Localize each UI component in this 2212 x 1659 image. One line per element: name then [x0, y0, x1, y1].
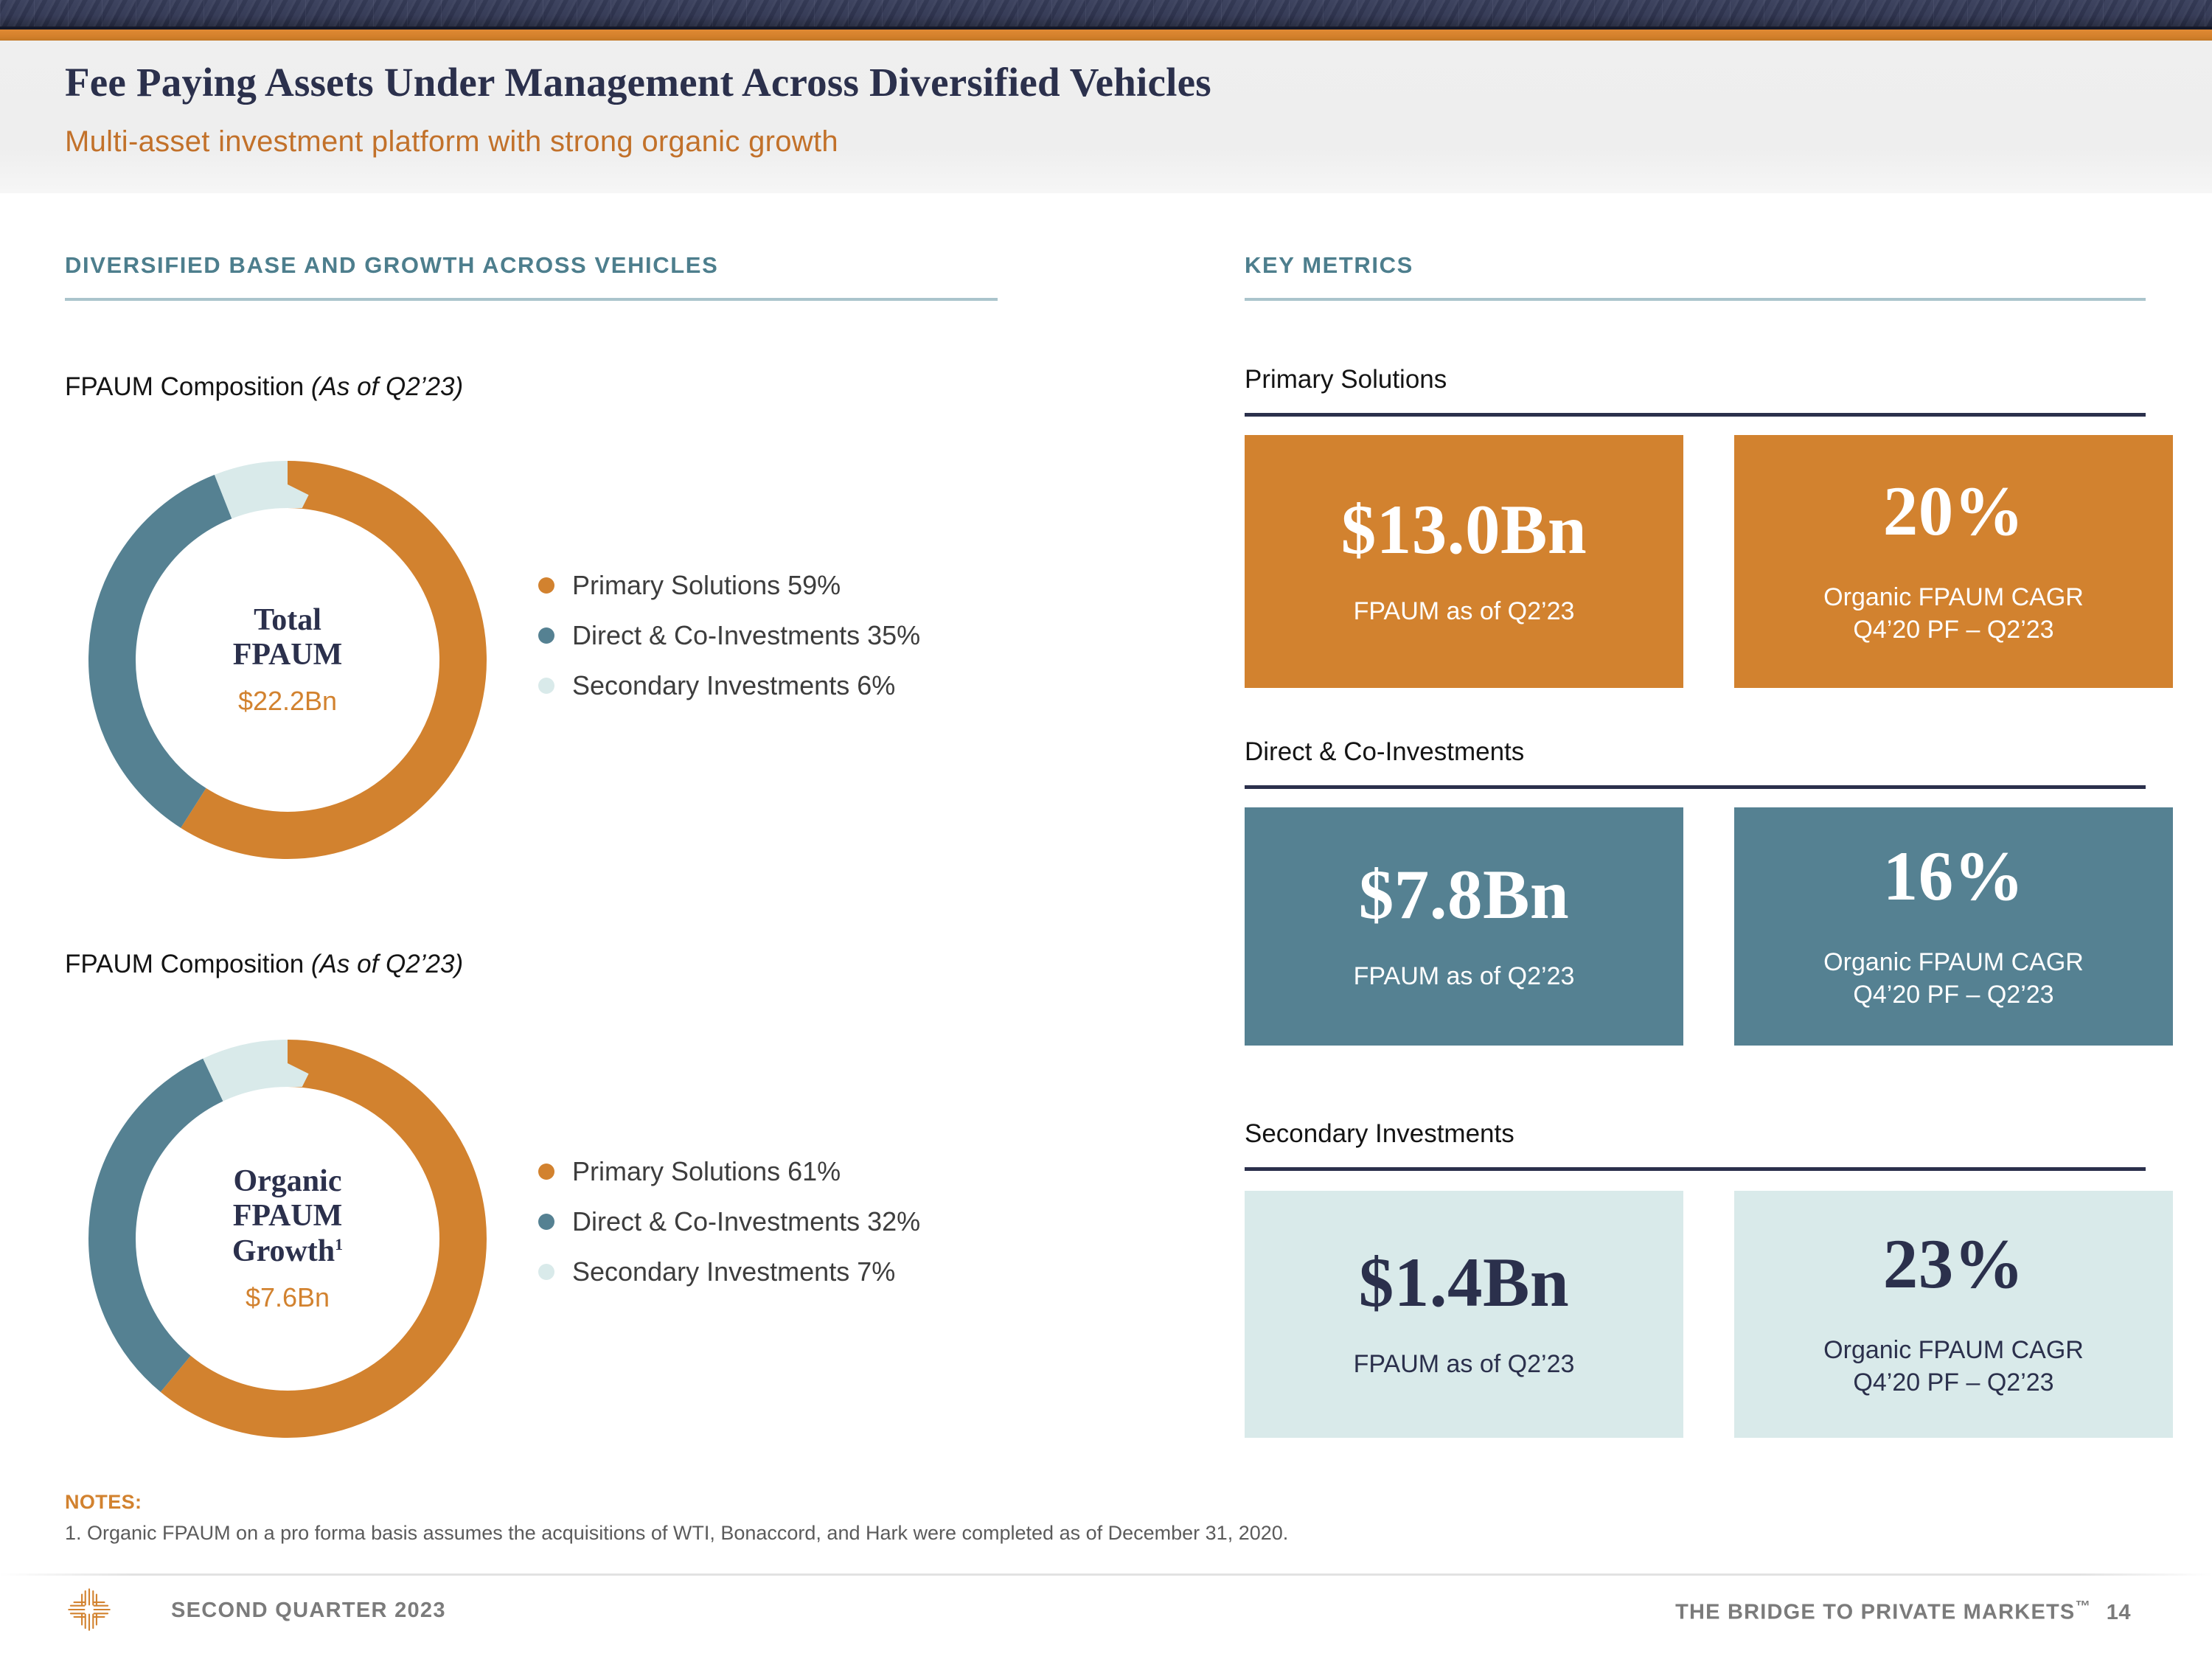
metric-card-caption-line1: Organic FPAUM CAGR — [1823, 1335, 2084, 1367]
metric-group-rule-secondary-investments — [1245, 1167, 2146, 1171]
donut-2-center-title-line3: Growth1 — [232, 1234, 343, 1269]
metric-card-caption-line1: Organic FPAUM CAGR — [1823, 947, 2084, 979]
metric-group-label-primary-solutions: Primary Solutions — [1245, 365, 1447, 394]
donut-chart-total-fpaum: Total FPAUM $22.2Bn — [74, 446, 501, 874]
metric-card-primary-fpaum[interactable]: $13.0Bn FPAUM as of Q2’23 — [1245, 435, 1683, 688]
legend-label: Secondary Investments 7% — [572, 1256, 895, 1287]
page-title: Fee Paying Assets Under Management Acros… — [65, 59, 1211, 105]
metric-card-value: 16% — [1883, 841, 2025, 911]
company-logo-icon — [65, 1585, 114, 1634]
footer-page-number: 14 — [2107, 1601, 2131, 1624]
metric-card-direct-fpaum[interactable]: $7.8Bn FPAUM as of Q2’23 — [1245, 807, 1683, 1046]
metric-card-caption: FPAUM as of Q2’23 — [1354, 1349, 1575, 1381]
legend-swatch-primary-solutions-icon — [538, 577, 554, 594]
metric-card-caption-line2: Q4’20 PF – Q2’23 — [1823, 979, 2084, 1012]
metric-group-rule-primary-solutions — [1245, 413, 2146, 417]
donut-1-center-title-line1: Total — [233, 603, 343, 638]
legend-item: Direct & Co-Investments 32% — [538, 1197, 920, 1247]
metric-card-direct-cagr[interactable]: 16% Organic FPAUM CAGR Q4’20 PF – Q2’23 — [1734, 807, 2173, 1046]
legend-label: Secondary Investments 6% — [572, 670, 895, 701]
chart-1-label-main: FPAUM Composition — [65, 372, 304, 401]
legend-item: Primary Solutions 61% — [538, 1147, 920, 1197]
legend-item: Primary Solutions 59% — [538, 560, 920, 611]
metric-card-value: 20% — [1883, 476, 2025, 546]
legend-label: Direct & Co-Investments 32% — [572, 1206, 920, 1237]
donut-1-center-title-line2: FPAUM — [233, 638, 343, 672]
metric-card-caption: FPAUM as of Q2’23 — [1354, 596, 1575, 628]
metric-card-caption: Organic FPAUM CAGR Q4’20 PF – Q2’23 — [1823, 582, 2084, 646]
donut-chart-organic-fpaum-growth: Organic FPAUM Growth1 $7.6Bn — [74, 1025, 501, 1453]
metric-card-value: $1.4Bn — [1359, 1248, 1569, 1318]
chart-2-label-note: (As of Q2’23) — [311, 950, 463, 978]
donut-2-center-title: Organic FPAUM Growth1 — [232, 1164, 343, 1268]
chart-2-legend: Primary Solutions 61% Direct & Co-Invest… — [538, 1147, 920, 1297]
chart-1-label: FPAUM Composition (As of Q2’23) — [65, 372, 463, 402]
legend-item: Direct & Co-Investments 35% — [538, 611, 920, 661]
metric-card-value: 23% — [1883, 1229, 2025, 1299]
page-subtitle: Multi-asset investment platform with str… — [65, 125, 838, 159]
footer-tagline: THE BRIDGE TO PRIVATE MARKETS™14 — [1675, 1599, 2131, 1625]
chart-2-label-main: FPAUM Composition — [65, 950, 304, 978]
donut-2-center-title-line3-text: Growth — [232, 1234, 335, 1268]
metric-group-label-direct-co-investments: Direct & Co-Investments — [1245, 737, 1524, 767]
metric-card-caption: Organic FPAUM CAGR Q4’20 PF – Q2’23 — [1823, 1335, 2084, 1399]
orange-accent-band — [0, 29, 2212, 41]
legend-item: Secondary Investments 6% — [538, 661, 920, 711]
left-section-rule — [65, 298, 998, 301]
metric-group-rule-direct-co-investments — [1245, 785, 2146, 789]
left-section-title: DIVERSIFIED BASE AND GROWTH ACROSS VEHIC… — [65, 252, 718, 279]
donut-1-center-value: $22.2Bn — [238, 686, 337, 717]
metric-card-value: $7.8Bn — [1359, 860, 1569, 930]
metric-group-label-secondary-investments: Secondary Investments — [1245, 1119, 1514, 1149]
metric-card-value: $13.0Bn — [1341, 495, 1587, 565]
metric-card-secondary-cagr[interactable]: 23% Organic FPAUM CAGR Q4’20 PF – Q2’23 — [1734, 1191, 2173, 1438]
metric-card-caption: FPAUM as of Q2’23 — [1354, 961, 1575, 993]
donut-2-center-value: $7.6Bn — [246, 1282, 330, 1313]
donut-1-center: Total FPAUM $22.2Bn — [74, 446, 501, 874]
legend-item: Secondary Investments 7% — [538, 1247, 920, 1297]
donut-1-center-title: Total FPAUM — [233, 603, 343, 672]
right-section-title: KEY METRICS — [1245, 252, 1413, 279]
metric-card-caption-line1: Organic FPAUM CAGR — [1823, 582, 2084, 614]
legend-label: Direct & Co-Investments 35% — [572, 620, 920, 651]
legend-swatch-primary-solutions-icon — [538, 1164, 554, 1180]
notes-text: 1. Organic FPAUM on a pro forma basis as… — [65, 1522, 1288, 1545]
metric-card-caption: Organic FPAUM CAGR Q4’20 PF – Q2’23 — [1823, 947, 2084, 1011]
footer-quarter-label: SECOND QUARTER 2023 — [171, 1599, 446, 1623]
legend-label: Primary Solutions 61% — [572, 1156, 841, 1187]
donut-2-center-title-footnote-marker: 1 — [335, 1236, 343, 1253]
legend-swatch-secondary-investments-icon — [538, 678, 554, 694]
top-decorative-band — [0, 0, 2212, 28]
metric-card-primary-cagr[interactable]: 20% Organic FPAUM CAGR Q4’20 PF – Q2’23 — [1734, 435, 2173, 688]
donut-2-center-title-line2: FPAUM — [232, 1199, 343, 1234]
legend-label: Primary Solutions 59% — [572, 570, 841, 601]
donut-2-center-title-line1: Organic — [232, 1164, 343, 1199]
chart-2-label: FPAUM Composition (As of Q2’23) — [65, 950, 463, 979]
legend-swatch-direct-co-investments-icon — [538, 1214, 554, 1230]
metric-card-secondary-fpaum[interactable]: $1.4Bn FPAUM as of Q2’23 — [1245, 1191, 1683, 1438]
chart-1-legend: Primary Solutions 59% Direct & Co-Invest… — [538, 560, 920, 711]
legend-swatch-direct-co-investments-icon — [538, 627, 554, 644]
metric-card-caption-line2: Q4’20 PF – Q2’23 — [1823, 614, 2084, 647]
footer-divider — [0, 1573, 2212, 1576]
footer-trademark-icon: ™ — [2075, 1599, 2090, 1615]
notes-label: NOTES: — [65, 1491, 142, 1514]
legend-swatch-secondary-investments-icon — [538, 1264, 554, 1280]
right-section-rule — [1245, 298, 2146, 301]
chart-1-label-note: (As of Q2’23) — [311, 372, 463, 401]
donut-2-center: Organic FPAUM Growth1 $7.6Bn — [74, 1025, 501, 1453]
metric-card-caption-line2: Q4’20 PF – Q2’23 — [1823, 1367, 2084, 1399]
company-logo-svg — [65, 1585, 114, 1634]
footer-tagline-text: THE BRIDGE TO PRIVATE MARKETS — [1675, 1601, 2075, 1624]
